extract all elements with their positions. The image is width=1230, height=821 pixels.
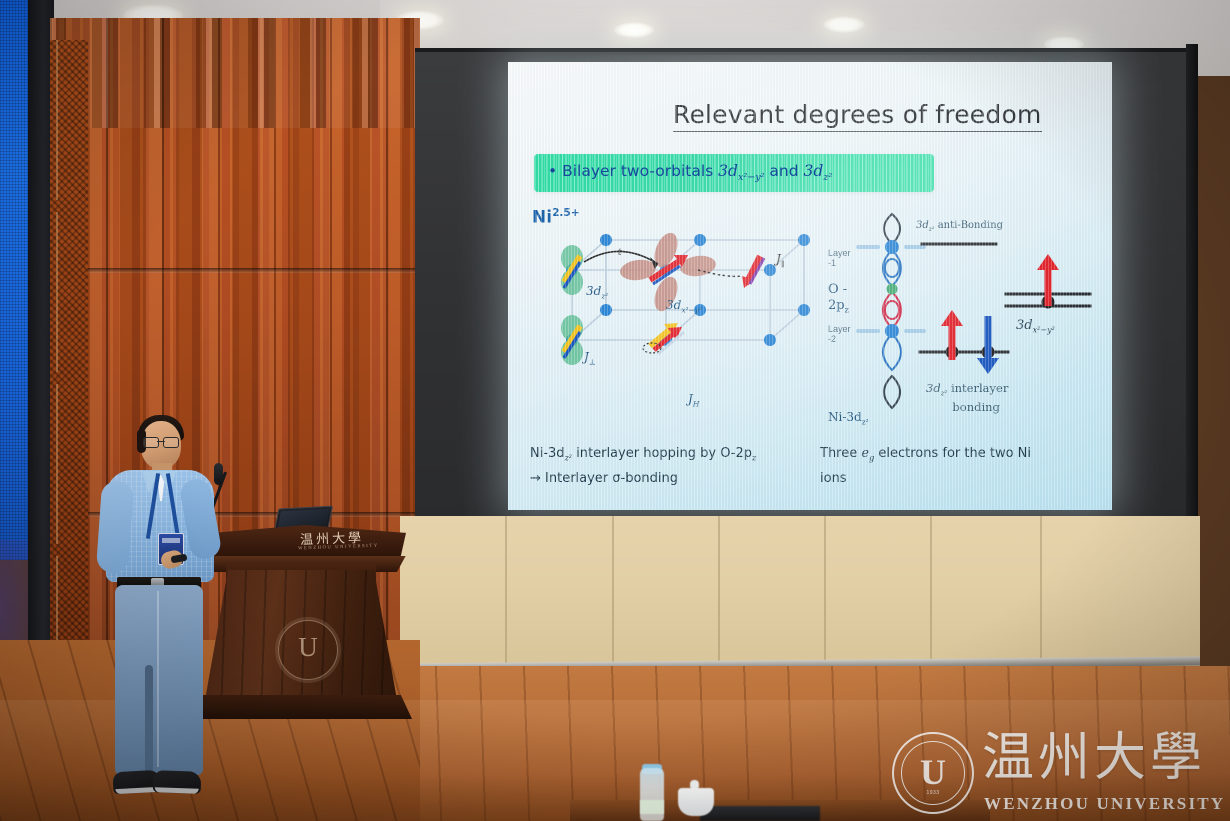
level-label-x2y2: 3dx²−y² (1016, 318, 1055, 335)
speaker-arm-left (96, 480, 134, 574)
podium-university-crest (278, 620, 338, 680)
layer2-line2: -2 (828, 334, 836, 344)
dx2y2-sym: 3d (666, 298, 681, 312)
lecture-hall-photo: Relevant degrees of freedom • Bilayer tw… (0, 0, 1230, 821)
bonding-rest: interlayer (947, 381, 1008, 395)
spin-up-x2y2 (1037, 254, 1059, 306)
chain-ni-site-top (885, 240, 899, 254)
chain-caption: Ni-3dz² (828, 410, 869, 426)
footer-right-line2: ions (820, 467, 1096, 491)
lattice-label-jpara: J∥ (776, 252, 784, 268)
mesh-panel-divider-1 (56, 40, 58, 200)
footer-l1b: interlayer hopping by O-2p (572, 446, 752, 461)
wood-panel-seam-1 (50, 268, 420, 273)
spin-arrow-right (742, 256, 764, 288)
chain-caption-text: Ni-3d (828, 410, 862, 424)
layer1-line2: -1 (828, 258, 836, 268)
footer-r1e: e (861, 446, 869, 461)
lattice-label-dx2y2: 3dx²−y² (666, 298, 702, 314)
level-x2y2-sub: x²−y² (1033, 326, 1055, 335)
dz2-sub: z² (601, 291, 608, 300)
footer-l1sub: z² (565, 454, 572, 463)
level-label-antibonding: 3dz² anti-Bonding (916, 220, 1003, 233)
level-label-bonding: 3dz² interlayer bonding (926, 380, 1008, 416)
footer-left-line2: → Interlayer σ-bonding (530, 467, 806, 491)
ceiling-downlight-3 (614, 22, 654, 38)
beige-wall-seam-1 (505, 516, 507, 664)
layer1-line1: Layer (828, 248, 851, 258)
foreground-dark-object (700, 806, 820, 821)
beige-wall-seam-6 (1040, 516, 1042, 664)
lattice-ion-charge: 2.5+ (552, 207, 579, 219)
footer-r1b: electrons for the two Ni (874, 446, 1031, 461)
oxygen-sub: z (845, 306, 849, 315)
footer-right-line1: Three eg electrons for the two Ni (820, 442, 1096, 467)
water-bottle-label (640, 800, 664, 814)
lattice-label-t: t (618, 248, 622, 258)
slide-bullet-highlight: • Bilayer two-orbitals 3dx²−y² and 3dz² (534, 154, 934, 192)
slide-title: Relevant degrees of freedom (673, 100, 1042, 132)
teacup (678, 788, 714, 816)
chain-oxygen-site (887, 284, 898, 295)
bullet-marker: • (548, 162, 557, 180)
layer2-line1: Layer (828, 324, 851, 334)
bullet-conjunction: and (765, 162, 804, 180)
speaker-glasses (143, 437, 179, 446)
mesh-panel-divider-2 (56, 212, 58, 372)
footer-l1sub2: z (752, 454, 756, 463)
speaker-shoe-right (153, 770, 202, 794)
beige-wall-seam-2 (612, 516, 614, 664)
level-x2y2-sym: 3d (1016, 318, 1033, 333)
chain-caption-sub: z² (862, 417, 869, 426)
chain-ni-site-bottom (885, 324, 899, 338)
dx2y2-sub: x²−y² (681, 305, 702, 314)
bullet-orbital-2-sub: z² (823, 173, 832, 184)
oxygen-line2: 2p (828, 298, 845, 313)
projection-screen-right-edge (1186, 44, 1198, 524)
speaker-jeans (115, 585, 203, 775)
spin-down-bonding (977, 316, 999, 374)
antibonding-rest: anti-Bonding (935, 220, 1003, 231)
shoe-sole-right (155, 787, 199, 794)
projected-slide: Relevant degrees of freedom • Bilayer tw… (508, 62, 1112, 510)
beige-wall-seam-4 (824, 516, 826, 664)
bullet-orbital-2: 3d (804, 162, 824, 180)
jhund-sub: H (693, 399, 700, 408)
lattice-label-jhund: JH (688, 392, 699, 408)
mesh-panel-divider-3 (56, 384, 58, 544)
bonding-line2: bonding (934, 399, 1000, 416)
speaker-person (95, 415, 225, 810)
chain-label-layer1: Layer -1 (828, 248, 851, 269)
slide-footer-right: Three eg electrons for the two Ni ions (820, 442, 1096, 491)
beige-wall-seam-3 (718, 516, 720, 664)
beige-wall-panel (400, 516, 1200, 666)
speaker-leg-separation (145, 665, 153, 777)
footer-left-line1: Ni-3dz² interlayer hopping by O-2pz (530, 442, 806, 467)
jperp-sub: ⊥ (589, 357, 596, 366)
ceiling-downlight-4 (823, 16, 865, 33)
lattice-label-jperp: J⊥ (584, 350, 596, 366)
chain-label-layer2: Layer -2 (828, 324, 851, 345)
oxygen-line1: O - (828, 282, 847, 297)
slide-bullet-text: • Bilayer two-orbitals 3dx²−y² and 3dz² (534, 162, 832, 183)
slide-footer-left: Ni-3dz² interlayer hopping by O-2pz → In… (530, 442, 806, 491)
bullet-orbital-1-sub: x²−y² (738, 173, 765, 184)
spin-arrow-hund (643, 323, 684, 354)
wood-panel-zigzag-top (50, 18, 420, 128)
beige-wall-seam-5 (930, 516, 932, 664)
bonding-sym: 3d (926, 381, 941, 395)
wall-led-display (0, 0, 28, 560)
dz2-sym: 3d (586, 284, 601, 298)
antibonding-sym: 3d (916, 220, 929, 231)
bullet-orbital-1: 3d (718, 162, 738, 180)
chain-label-oxygen: O - 2pz (828, 282, 849, 316)
footer-l1a: Ni-3d (530, 446, 565, 461)
footer-r1a: Three (820, 446, 861, 461)
bullet-prefix: Bilayer two-orbitals (562, 162, 718, 180)
jpara-sub: ∥ (781, 259, 784, 268)
lattice-label-dz2: 3dz² (586, 284, 608, 300)
slide-footer: Ni-3dz² interlayer hopping by O-2pz → In… (530, 442, 1096, 491)
lattice-ion-symbol: Ni (532, 208, 552, 228)
